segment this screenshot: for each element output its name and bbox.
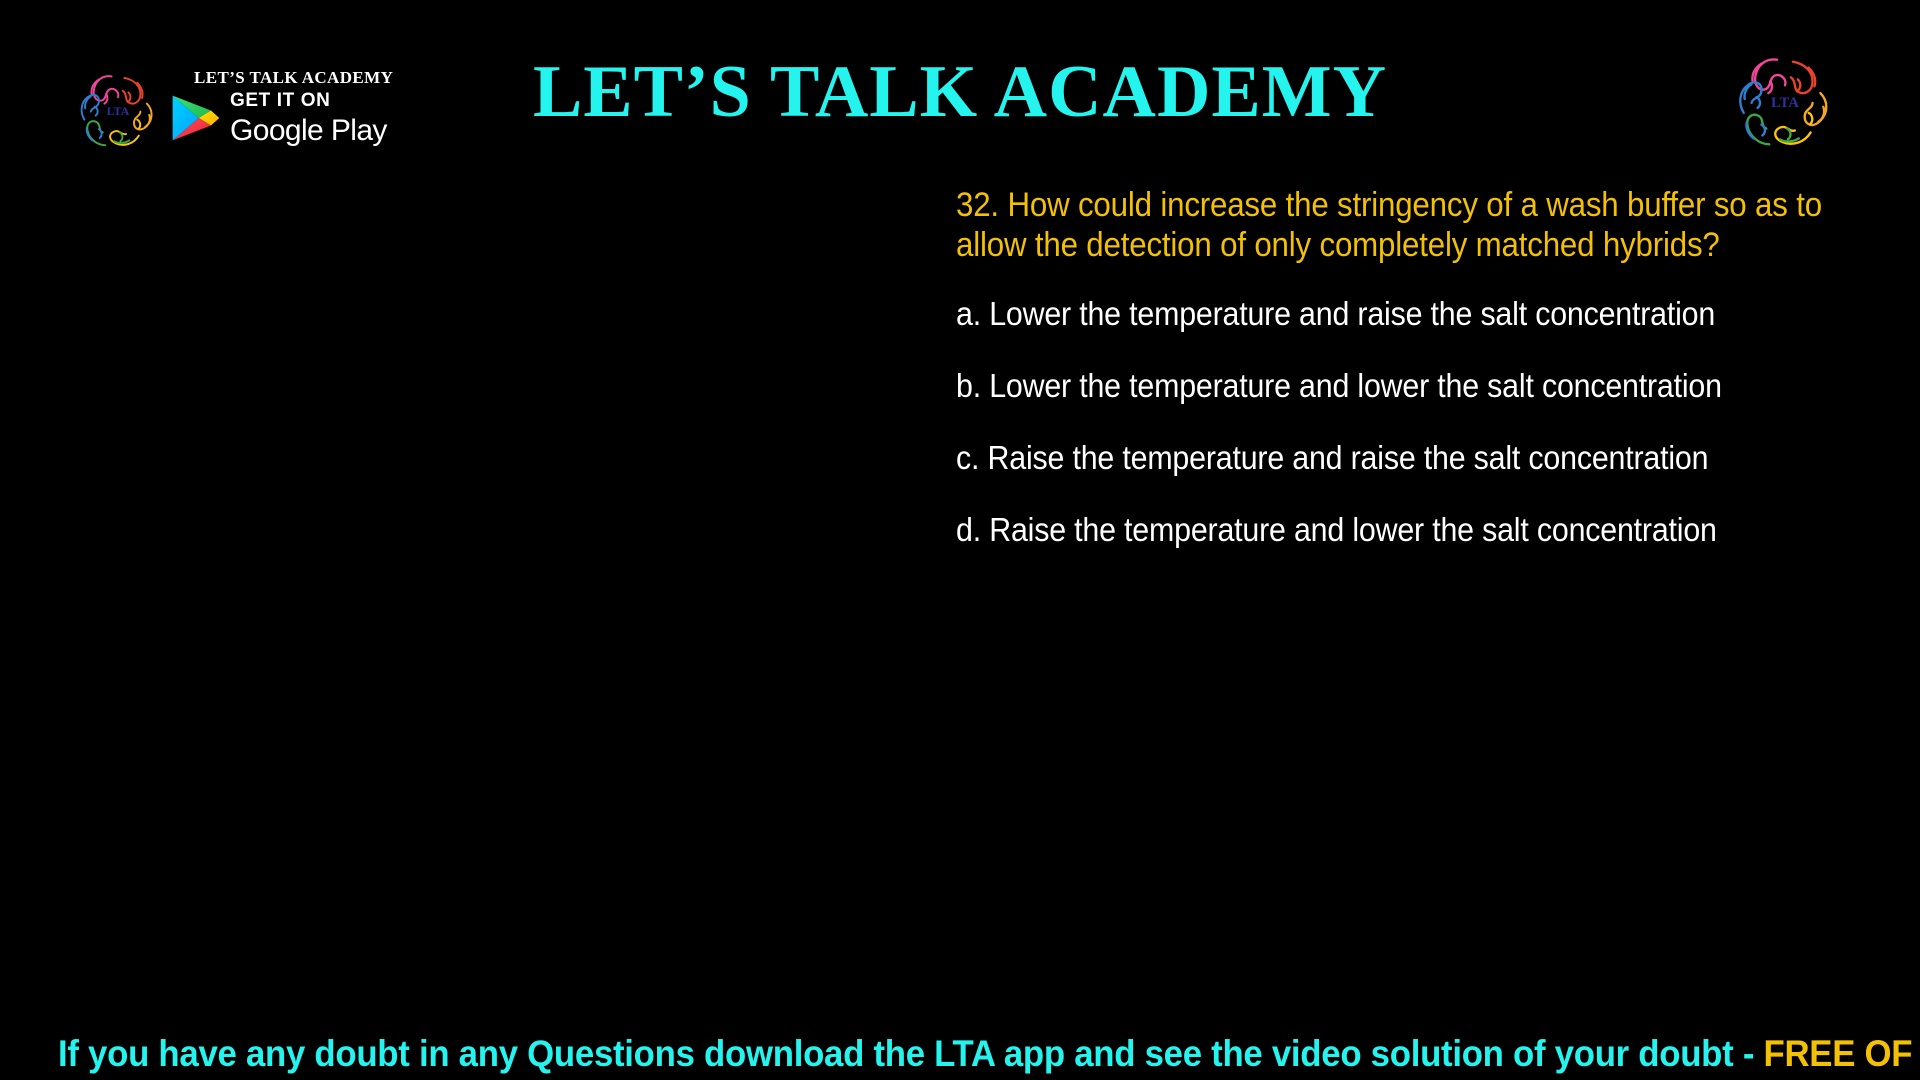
lta-protein-ribbon-logo: LTA (1726, 42, 1844, 160)
question-text: 32. How could increase the stringency of… (956, 185, 1856, 265)
option-a-letter: a. (956, 295, 981, 332)
footer-message: If you have any doubt in any Questions d… (58, 1034, 1920, 1076)
quiz-panel: 32. How could increase the stringency of… (956, 185, 1856, 549)
question-body: How could increase the stringency of a w… (956, 186, 1822, 264)
logo-center-label: LTA (1771, 95, 1799, 111)
option-b-letter: b. (956, 367, 981, 404)
footer-banner: If you have any doubt in any Questions d… (0, 1034, 1920, 1080)
option-d[interactable]: d. Raise the temperature and lower the s… (956, 511, 1856, 549)
option-c[interactable]: c. Raise the temperature and raise the s… (956, 439, 1856, 477)
option-a-label: Lower the temperature and raise the salt… (989, 295, 1715, 332)
option-list: a. Lower the temperature and raise the s… (956, 295, 1856, 549)
page-title: LET’S TALK ACADEMY (0, 52, 1920, 132)
option-c-label: Raise the temperature and raise the salt… (988, 439, 1709, 476)
option-b-label: Lower the temperature and lower the salt… (989, 367, 1722, 404)
slide-header: LTA LET’S TALK ACADEMY (0, 0, 1920, 175)
footer-highlight-text: FREE OF COST (1764, 1034, 1920, 1074)
option-d-letter: d. (956, 511, 981, 548)
option-a[interactable]: a. Lower the temperature and raise the s… (956, 295, 1856, 333)
option-b[interactable]: b. Lower the temperature and lower the s… (956, 367, 1856, 405)
option-c-letter: c. (956, 439, 979, 476)
footer-message-text: If you have any doubt in any Questions d… (58, 1034, 1764, 1074)
option-d-label: Raise the temperature and lower the salt… (989, 511, 1717, 548)
question-number: 32. (956, 186, 999, 224)
